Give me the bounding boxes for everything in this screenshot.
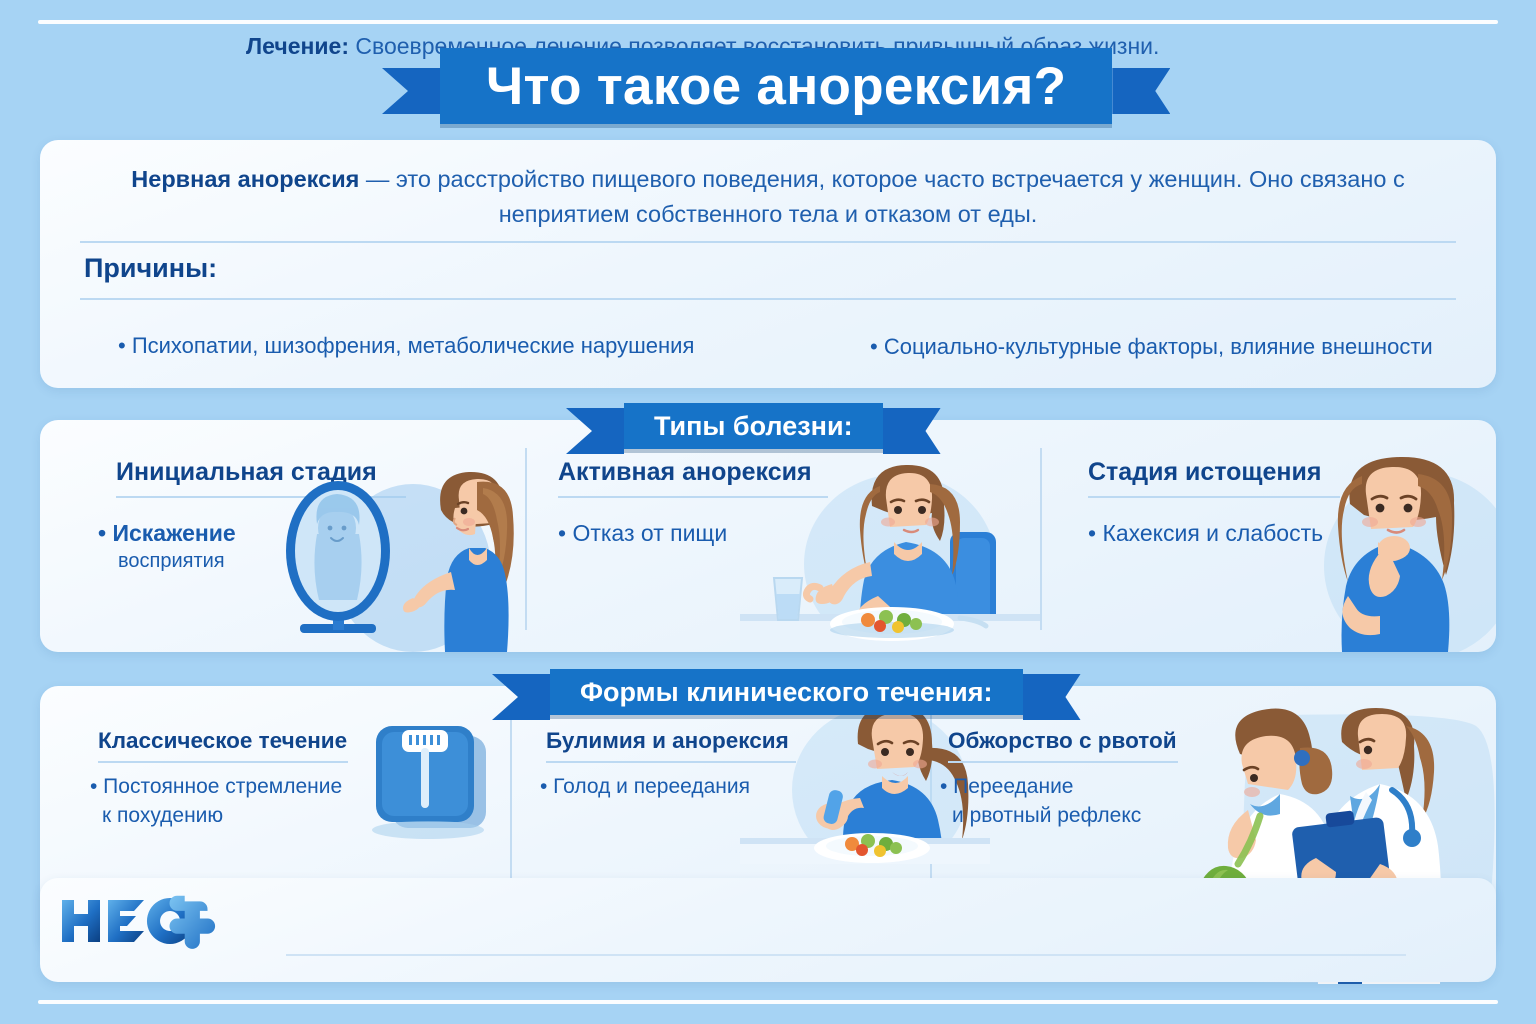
- bottom-divider: [38, 1000, 1498, 1004]
- ribbon-tail-left: [566, 408, 624, 454]
- intro-lead: Нервная анорексия: [131, 166, 359, 192]
- forms-banner: Формы клинического течения:: [492, 664, 1081, 720]
- types-col2-bullet-line1: • Отказ от пищи: [558, 518, 727, 548]
- types-banner: Типы болезни:: [566, 398, 941, 454]
- types-banner-label: Типы болезни:: [624, 403, 883, 449]
- exhausted-woman-illustration: [1290, 446, 1496, 652]
- forms-col1-bullet-line1: • Постоянное стремление: [90, 772, 342, 802]
- causes-heading: Причины:: [84, 253, 217, 284]
- forms-col3-bullet-line1: • Переедание: [940, 772, 1073, 802]
- types-col1-bullet-line2: восприятия: [118, 546, 225, 576]
- intro-paragraph: Нервная анорексия — это расстройство пищ…: [80, 162, 1456, 232]
- woman-refusing-food-illustration: [740, 454, 1040, 652]
- forms-col1-underline: [98, 761, 348, 763]
- intro-rest: — это расстройство пищевого поведения, к…: [359, 166, 1404, 227]
- treatment-card: [40, 878, 1496, 982]
- infographic-page: Что такое анорексия? Нервная анорексия —…: [0, 0, 1536, 1024]
- forms-col1-bullet-line2: к похудению: [102, 801, 223, 831]
- forms-banner-label: Формы клинического течения:: [550, 669, 1023, 715]
- intro-divider-bottom: [80, 298, 1456, 300]
- types-col1-bullet-line1: • Искажение: [98, 518, 236, 548]
- types-divider-2: [1040, 448, 1042, 630]
- forms-col2-bullet-line1: • Голод и переедания: [540, 772, 750, 802]
- ribbon-tail-right: [883, 408, 941, 454]
- cause-item-2: • Социально-культурные факторы, влияние …: [870, 334, 1433, 360]
- top-divider: [38, 20, 1498, 24]
- forms-col1-title: Классическое течение: [98, 728, 347, 754]
- forms-col2-title-strong: Булимия: [546, 728, 646, 753]
- types-col3-bullet-line1: • Кахексия и слабость: [1088, 518, 1323, 548]
- treatment-label: Лечение:: [246, 33, 349, 59]
- intro-divider-top: [80, 241, 1456, 243]
- title-banner: Что такое анорексия?: [382, 48, 1170, 124]
- ribbon-tail-left: [382, 68, 440, 114]
- intro-card: Нервная анорексия — это расстройство пищ…: [40, 140, 1496, 388]
- cause-item-1: • Психопатии, шизофрения, метаболические…: [118, 333, 694, 359]
- woman-mirror-illustration: [245, 448, 535, 652]
- neo-plus-logo: [60, 892, 230, 950]
- treatment-divider: [286, 954, 1406, 956]
- ribbon-tail-left: [492, 674, 550, 720]
- types-card: Инициальная стадия • Искажение восприяти…: [40, 420, 1496, 652]
- page-title: Что такое анорексия?: [440, 48, 1112, 124]
- ribbon-tail-right: [1023, 674, 1081, 720]
- types-col3-title: Стадия истощения: [1088, 458, 1321, 487]
- ribbon-tail-right: [1112, 68, 1170, 114]
- forms-col3-bullet-line2: и рвотный рефлекс: [952, 801, 1141, 831]
- bathroom-scale-illustration: [358, 714, 508, 844]
